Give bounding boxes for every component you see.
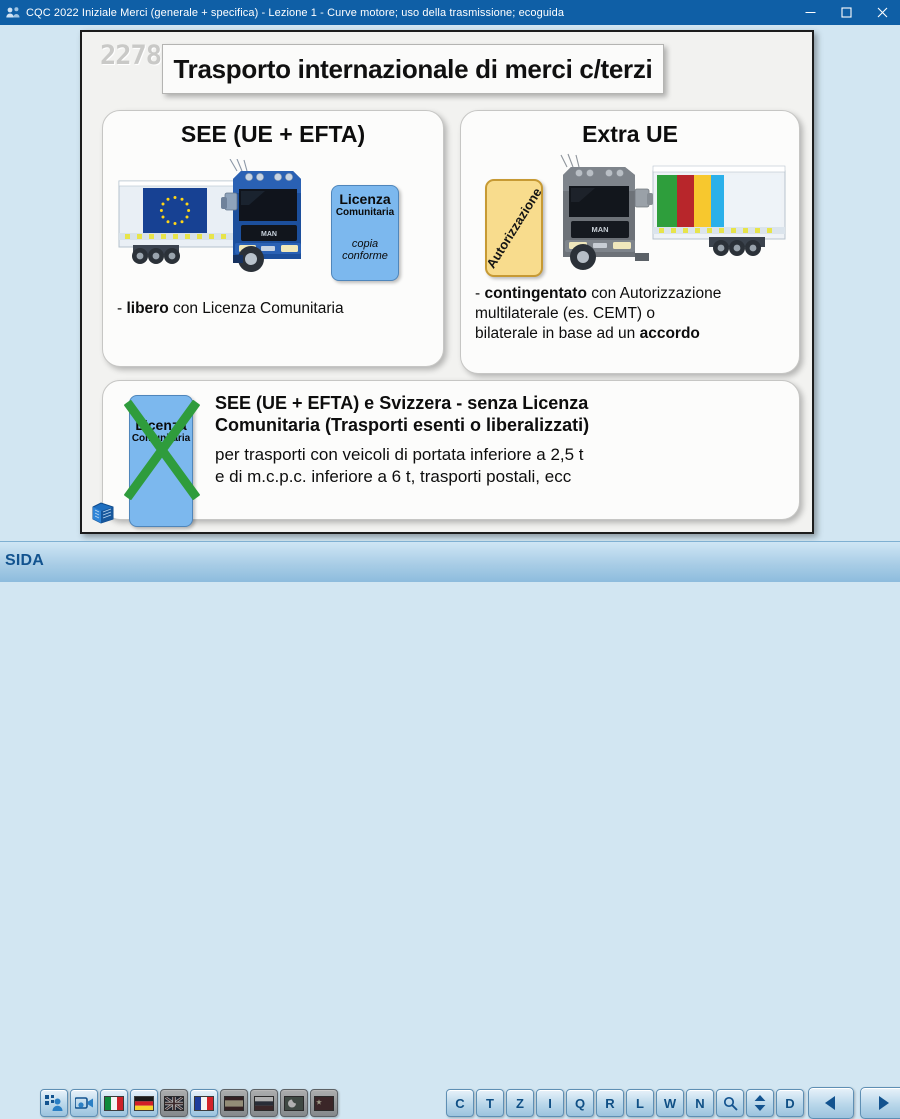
panel-exempt-heading-line1: SEE (UE + EFTA) e Svizzera - senza Licen… bbox=[215, 393, 789, 415]
flag-russia[interactable] bbox=[250, 1089, 278, 1117]
flag-arabic[interactable] bbox=[280, 1089, 308, 1117]
maximize-button[interactable] bbox=[828, 0, 864, 25]
licenza-card-crossed-body: Licenza Comunitaria bbox=[129, 395, 193, 527]
slide-canvas[interactable]: 22784 Trasporto internazionale di merci … bbox=[80, 30, 814, 534]
panel-extra-ue-body-line2: multilaterale (es. CEMT) o bbox=[475, 304, 789, 324]
button-q[interactable]: Q bbox=[566, 1089, 594, 1117]
minimize-button[interactable] bbox=[792, 0, 828, 25]
panel-see: SEE (UE + EFTA) bbox=[102, 110, 444, 367]
workspace: 22784 Trasporto internazionale di merci … bbox=[0, 25, 900, 541]
qr-person-icon[interactable] bbox=[40, 1089, 68, 1117]
licenza-card-line2: Comunitaria bbox=[332, 207, 398, 218]
title-bar: CQC 2022 Iniziale Merci (generale + spec… bbox=[0, 0, 900, 25]
panel-see-heading: SEE (UE + EFTA) bbox=[103, 121, 443, 148]
panel-extra-ue-line1-bold: contingentato bbox=[484, 285, 586, 302]
brand-label: SIDA bbox=[5, 552, 44, 570]
licenza-comunitaria-card-crossed: Licenza Comunitaria bbox=[119, 391, 205, 509]
panel-exempt-text: SEE (UE + EFTA) e Svizzera - senza Licen… bbox=[215, 393, 789, 488]
button-w[interactable]: W bbox=[656, 1089, 684, 1117]
panel-extra-ue-line1-suffix: con Autorizzazione bbox=[587, 285, 721, 302]
flag-spain[interactable] bbox=[220, 1089, 248, 1117]
flag-france[interactable] bbox=[190, 1089, 218, 1117]
panel-see-body-suffix: con Licenza Comunitaria bbox=[169, 300, 344, 317]
bottom-toolbar: SIDA bbox=[0, 541, 900, 582]
people-icon bbox=[0, 0, 26, 25]
button-t[interactable]: T bbox=[476, 1089, 504, 1117]
video-camera-icon[interactable] bbox=[70, 1089, 98, 1117]
autorizzazione-card-label: Autorizzazione bbox=[485, 185, 543, 271]
button-z[interactable]: Z bbox=[506, 1089, 534, 1117]
application-window: CQC 2022 Iniziale Merci (generale + spec… bbox=[0, 0, 900, 581]
button-d[interactable]: D bbox=[776, 1089, 804, 1117]
button-r[interactable]: R bbox=[596, 1089, 624, 1117]
panel-exempt-heading-line2: Comunitaria (Trasporti esenti o liberali… bbox=[215, 415, 789, 437]
up-down-stepper[interactable] bbox=[746, 1089, 774, 1117]
svg-text:MAN: MAN bbox=[591, 225, 608, 234]
button-l[interactable]: L bbox=[626, 1089, 654, 1117]
svg-text:MAN: MAN bbox=[261, 231, 277, 238]
licenza-crossed-line1: Licenza bbox=[130, 418, 192, 433]
panel-extra-ue-body-line3: bilaterale in base ad un accordo bbox=[475, 324, 789, 344]
licenza-card-line3b: conforme bbox=[332, 250, 398, 263]
button-c[interactable]: C bbox=[446, 1089, 474, 1117]
licenza-card-line3a: copia bbox=[332, 238, 398, 251]
autorizzazione-card: Autorizzazione bbox=[485, 179, 543, 277]
search-icon[interactable] bbox=[716, 1089, 744, 1117]
flag-united-kingdom[interactable] bbox=[160, 1089, 188, 1117]
button-i[interactable]: I bbox=[536, 1089, 564, 1117]
panel-extra-ue: Extra UE Autorizzazione bbox=[460, 110, 800, 374]
previous-slide-button[interactable] bbox=[808, 1087, 854, 1119]
panel-see-body-bold: libero bbox=[126, 300, 168, 317]
window-title: CQC 2022 Iniziale Merci (generale + spec… bbox=[26, 7, 564, 19]
close-button[interactable] bbox=[864, 0, 900, 25]
button-n[interactable]: N bbox=[686, 1089, 714, 1117]
blue-truck-eu-flag-icon: MAN bbox=[115, 159, 327, 287]
panel-exempt-body-line2: e di m.c.p.c. inferiore a 6 t, trasporti… bbox=[215, 466, 789, 488]
licenza-comunitaria-card: Licenza Comunitaria copia conforme bbox=[331, 185, 399, 281]
panel-extra-ue-heading: Extra UE bbox=[461, 121, 799, 148]
slide-title: Trasporto internazionale di merci c/terz… bbox=[174, 54, 653, 85]
panel-extra-ue-line3-bold: accordo bbox=[640, 325, 700, 342]
panel-extra-ue-line3-prefix: bilaterale in base ad un bbox=[475, 325, 640, 342]
panel-see-body: - libero con Licenza Comunitaria bbox=[117, 299, 433, 319]
panel-extra-ue-body-line1: - contingentato con Autorizzazione bbox=[475, 284, 789, 304]
grey-truck-coloured-trailer-icon: MAN bbox=[549, 153, 789, 283]
flag-germany[interactable] bbox=[130, 1089, 158, 1117]
panel-exempt-body-line1: per trasporti con veicoli di portata inf… bbox=[215, 444, 789, 466]
licenza-card-line1: Licenza bbox=[332, 192, 398, 207]
flag-china[interactable] bbox=[310, 1089, 338, 1117]
licenza-crossed-line2: Comunitaria bbox=[130, 433, 192, 444]
sida-watermark-logo bbox=[90, 500, 116, 526]
flag-italy[interactable] bbox=[100, 1089, 128, 1117]
next-slide-button[interactable] bbox=[860, 1087, 900, 1119]
slide-title-box: Trasporto internazionale di merci c/terz… bbox=[162, 44, 664, 94]
panel-exempt: Licenza Comunitaria SEE (UE + EFTA) e Sv… bbox=[102, 380, 800, 520]
panel-extra-ue-body: - contingentato con Autorizzazione multi… bbox=[475, 284, 789, 344]
